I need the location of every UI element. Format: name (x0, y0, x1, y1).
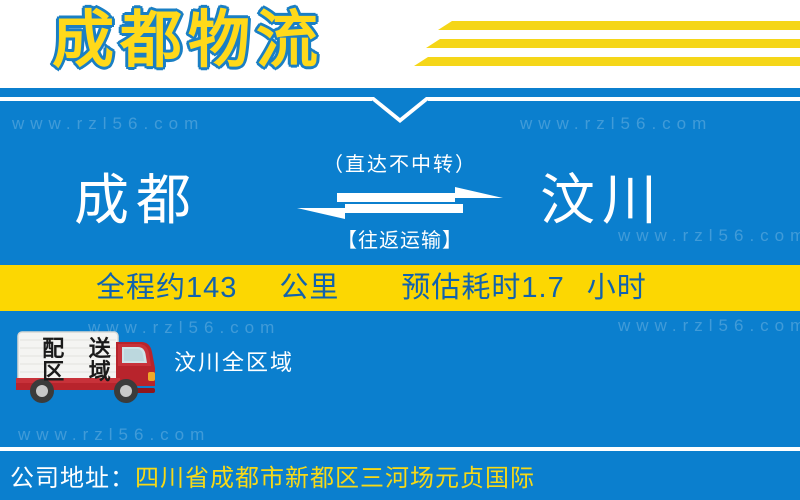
delivery-row: 配 送 区 域 汶川全区域 (0, 328, 800, 408)
address-label: 公司地址： (10, 465, 135, 492)
truck-box-char-4: 域 (77, 360, 124, 383)
page-title: 成都物流 (52, 0, 324, 84)
truck-box-char-2: 送 (77, 337, 124, 360)
duration-value: 预估耗时1.7 (401, 265, 564, 311)
route-row: 成都 （直达不中转） 【往返运输】 汶川 (0, 150, 800, 266)
main-panel: www.rzl56.com www.rzl56.com www.rzl56.co… (0, 88, 800, 500)
distance-unit: 公里 (279, 265, 339, 311)
divider-line-left (0, 97, 372, 101)
stripe-2 (426, 39, 800, 48)
route-note-direct: （直达不中转） (272, 150, 528, 180)
address-value: 四川省成都市新都区三河场元贞国际 (135, 465, 535, 492)
duration-unit: 小时 (587, 265, 647, 311)
double-arrow-icon (295, 185, 505, 223)
distance-value: 全程约143 (96, 265, 237, 311)
stripe-3 (414, 57, 800, 66)
coverage-area-text: 汶川全区域 (174, 344, 294, 382)
trip-info-band: 全程约143 公里 预估耗时1.7 小时 (0, 265, 800, 311)
truck-box-label: 配 送 区 域 (30, 337, 123, 383)
decorative-stripes (400, 0, 800, 88)
stripe-1 (438, 21, 800, 30)
destination-city: 汶川 (540, 160, 664, 240)
chevron-divider (0, 97, 800, 127)
footer-divider (0, 447, 800, 451)
route-note-roundtrip: 【往返运输】 (272, 226, 528, 256)
divider-line-right (428, 97, 800, 101)
logistics-banner: 成都物流 www.rzl56.com www.rzl56.com www.rzl… (0, 0, 800, 500)
truck-box-char-3: 区 (30, 360, 77, 383)
route-middle: （直达不中转） 【往返运输】 (272, 150, 528, 266)
delivery-truck-icon: 配 送 区 域 (8, 328, 156, 404)
watermark: www.rzl56.com (18, 425, 210, 445)
chevron-down-icon (368, 97, 432, 123)
banner-header: 成都物流 (0, 0, 800, 88)
truck-box-char-1: 配 (30, 337, 77, 360)
company-address: 公司地址：四川省成都市新都区三河场元贞国际 (10, 459, 800, 499)
origin-city: 成都 (74, 160, 198, 240)
